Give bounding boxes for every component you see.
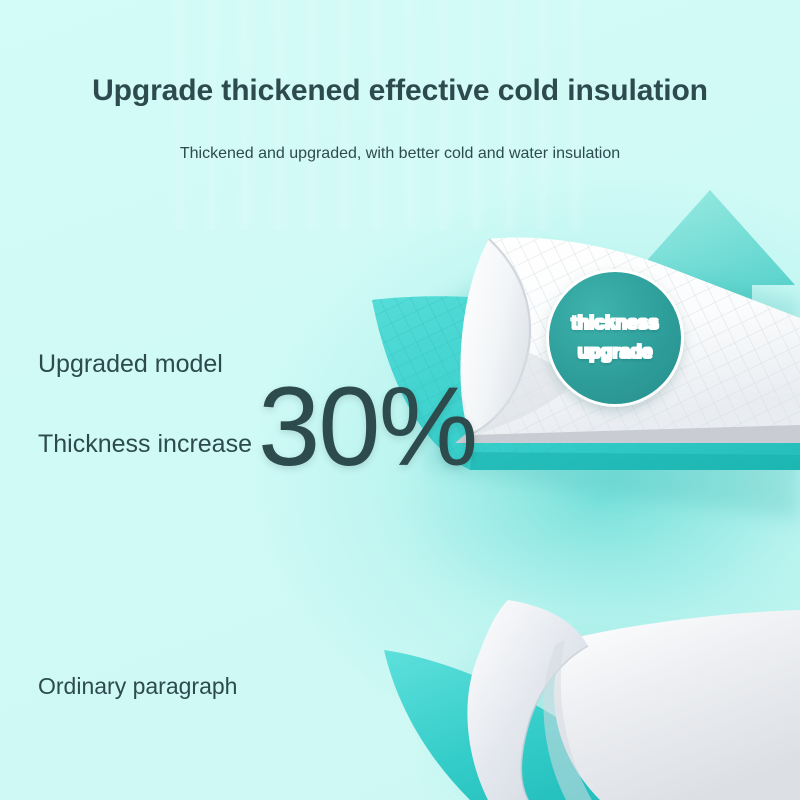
thickness-upgrade-badge: thickness upgrade [549,272,681,404]
badge-line-2: upgrade [578,342,653,364]
ordinary-pad-surface [554,610,800,800]
thickness-increase-label: Thickness increase [38,430,252,459]
product-poster: Upgrade thickened effective cold insulat… [0,0,800,800]
badge-line-1: thickness [571,313,659,335]
page-subtitle: Thickened and upgraded, with better cold… [0,145,800,163]
thickness-increase-value: 30% [258,371,476,483]
upgraded-model-label: Upgraded model [38,350,223,379]
ordinary-model-label: Ordinary paragraph [38,673,237,700]
page-title: Upgrade thickened effective cold insulat… [0,74,800,108]
